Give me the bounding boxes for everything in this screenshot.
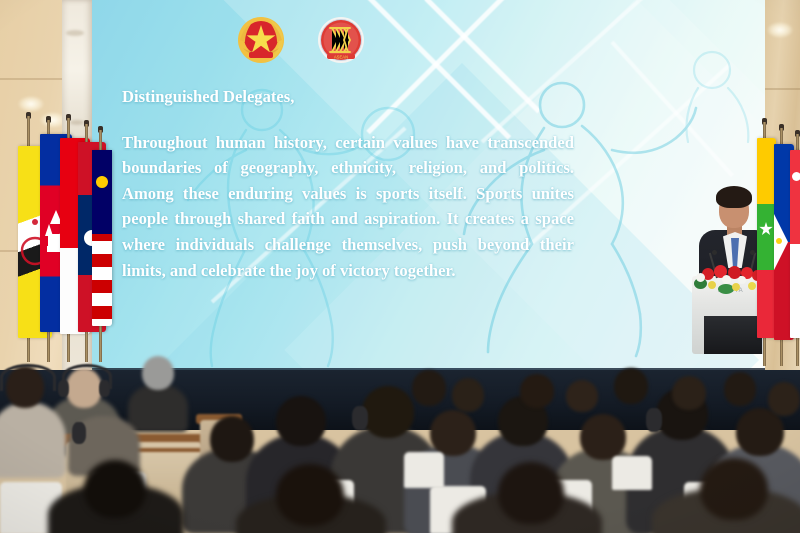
microphone-head	[712, 250, 717, 255]
audience-seating	[0, 352, 800, 533]
svg-text:ASEAN: ASEAN	[334, 54, 348, 59]
vietnam-national-emblem-icon	[235, 14, 287, 66]
conference-hall-photo: ASEAN Distinguished Delegates, Throughou…	[0, 0, 800, 533]
flag-group-left	[6, 112, 102, 362]
flag-malaysia	[92, 150, 112, 326]
speech-salutation: Distinguished Delegates,	[122, 84, 574, 110]
ceiling-spotlight	[18, 96, 44, 112]
asean-emblem-icon: ASEAN	[315, 14, 367, 66]
emblem-row: ASEAN	[235, 14, 375, 66]
speech-body: Throughout human history, certain values…	[122, 130, 574, 284]
flag-singapore	[790, 150, 800, 338]
flag-group-right	[752, 118, 800, 368]
speech-text-block: Distinguished Delegates, Throughout huma…	[122, 84, 574, 283]
led-presentation-screen: ASEAN Distinguished Delegates, Throughou…	[92, 0, 765, 376]
wall-panel-seam	[762, 88, 800, 90]
ceiling-spotlight	[767, 22, 793, 38]
speaker-hair	[716, 186, 752, 208]
